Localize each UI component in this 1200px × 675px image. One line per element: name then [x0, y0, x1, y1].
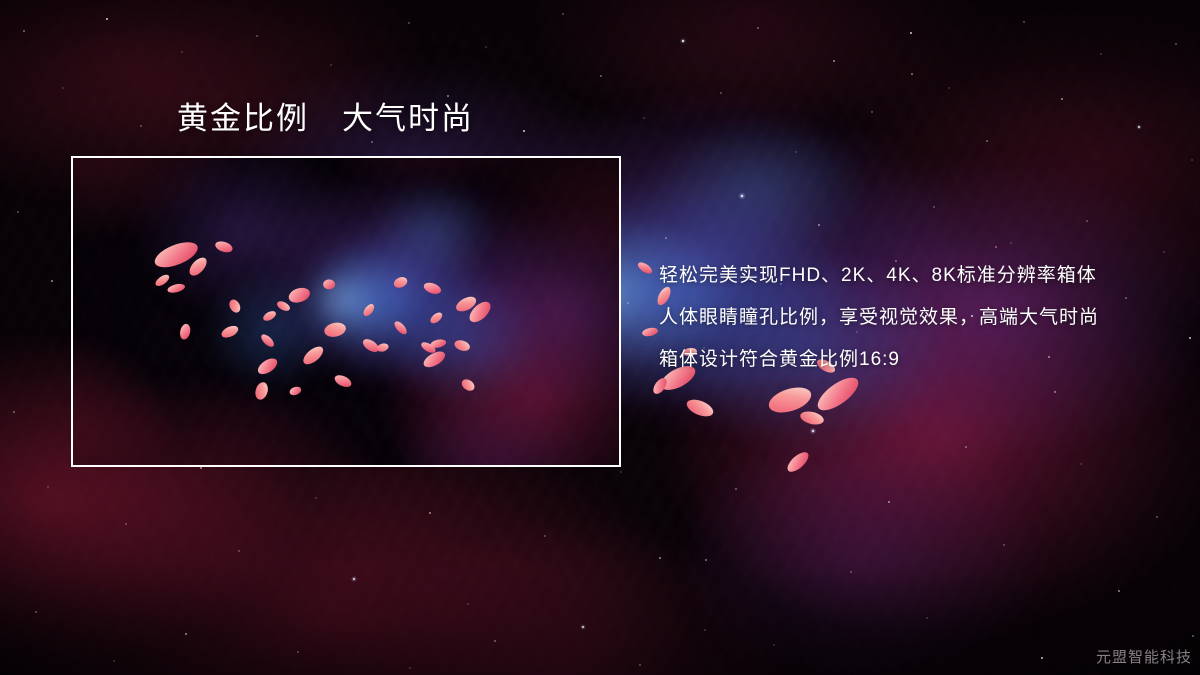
nebula-preview-frame: [71, 156, 621, 467]
description-line-1: 轻松完美实现FHD、2K、4K、8K标准分辨率箱体: [659, 255, 1179, 297]
panel-nebula-vignette: [73, 158, 619, 465]
brand-watermark: 元盟智能科技: [1096, 646, 1192, 667]
feature-description: 轻松完美实现FHD、2K、4K、8K标准分辨率箱体 人体眼睛瞳孔比例，享受视觉效…: [659, 255, 1179, 381]
slide-canvas: 黄金比例 大气时尚 轻松完美实现FHD、2K、4K、8K标准分辨率箱体 人体眼睛…: [0, 0, 1200, 675]
nebula-preview-content: [73, 158, 619, 465]
description-line-3: 箱体设计符合黄金比例16:9: [659, 339, 1179, 381]
nebula-preview-artwork: [73, 158, 619, 465]
description-line-2: 人体眼睛瞳孔比例，享受视觉效果，高端大气时尚: [659, 297, 1179, 339]
page-title: 黄金比例 大气时尚: [177, 100, 474, 137]
